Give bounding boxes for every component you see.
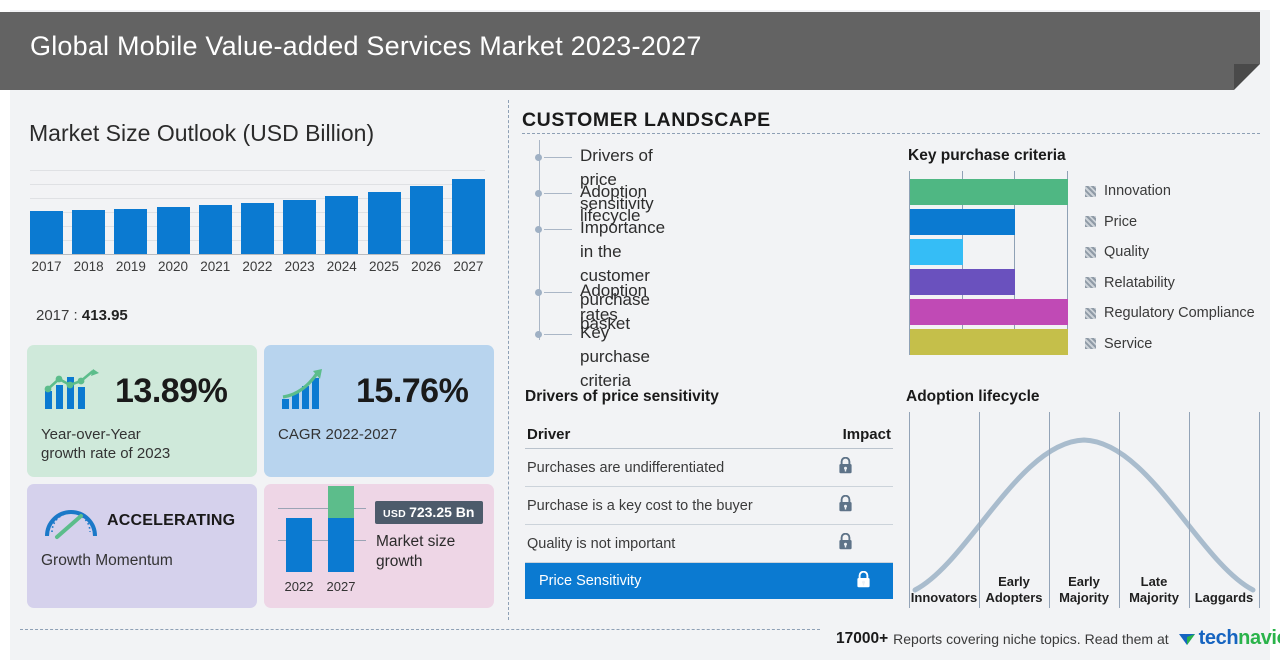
- bar-chart-growth-icon: [41, 367, 103, 413]
- lock-icon[interactable]: [856, 571, 871, 592]
- bullet-dot-icon: [535, 190, 542, 197]
- kpi-sub-yoy: Year-over-Year growth rate of 2023: [41, 425, 170, 463]
- kpi-sub-cagr: CAGR 2022-2027: [278, 425, 397, 444]
- caption-value: 413.95: [82, 307, 128, 324]
- kpc-legend-label: Relatability: [1104, 275, 1175, 291]
- market-size-title: Market Size Outlook (USD Billion): [29, 120, 374, 147]
- growth-mini-chart: 2022 2027: [278, 498, 366, 594]
- kpc-legend-label: Regulatory Compliance: [1104, 305, 1255, 321]
- table-row[interactable]: Purchase is a key cost to the buyer: [525, 487, 893, 525]
- momentum-label: ACCELERATING: [107, 512, 235, 530]
- infographic-page: Global Mobile Value-added Services Marke…: [0, 0, 1280, 670]
- kpi-card-yoy: 13.89% Year-over-Year growth rate of 202…: [27, 345, 257, 477]
- bar-2018: [72, 210, 105, 254]
- lock-icon: [838, 457, 853, 474]
- kpi-card-growth: 2022 2027 USD723.25 Bn Market size growt…: [264, 484, 494, 608]
- kpi-card-momentum: ACCELERATING Growth Momentum: [27, 484, 257, 608]
- column-header-impact: Impact: [843, 426, 891, 443]
- logo-tech: tech: [1199, 627, 1239, 650]
- stage-label: Early Adopters: [979, 574, 1049, 606]
- kpc-legend-item: Innovation: [1085, 176, 1275, 207]
- x-label-2025: 2025: [368, 259, 401, 274]
- driver-name: Price Sensitivity: [539, 573, 641, 589]
- x-label-2022: 2022: [241, 259, 274, 274]
- kpc-legend-item: Relatability: [1085, 268, 1275, 299]
- kpc-legend-label: Service: [1104, 336, 1152, 352]
- connector-line: [544, 193, 572, 194]
- logo-navio: navio: [1238, 627, 1280, 650]
- table-row[interactable]: Price Sensitivity: [525, 563, 893, 599]
- drivers-table-body: Purchases are undifferentiatedPurchase i…: [525, 449, 893, 599]
- hatched-swatch-icon: [1085, 308, 1096, 319]
- bar-2017: [30, 211, 63, 254]
- bullet-dot-icon: [535, 331, 542, 338]
- technavio-logo[interactable]: technavio™: [1179, 627, 1280, 650]
- bar-2021: [199, 205, 232, 254]
- stage-divider: [1189, 412, 1190, 608]
- footer-divider: [20, 629, 820, 630]
- bullet-dot-icon: [535, 154, 542, 161]
- chart-x-axis-labels: 2017201820192020202120222023202420252026…: [30, 259, 485, 274]
- mini-xlabel-2027: 2027: [322, 579, 360, 594]
- kpc-bar-relatability: [910, 269, 1015, 295]
- bar-2023: [283, 200, 316, 254]
- column-header-driver: Driver: [527, 426, 570, 443]
- driver-name: Purchases are undifferentiated: [527, 460, 724, 476]
- kpc-bar-price: [910, 209, 1015, 235]
- key-purchase-criteria-legend: InnovationPriceQualityRelatabilityRegula…: [1085, 176, 1275, 359]
- market-size-bar-chart: [30, 170, 485, 255]
- drivers-table-header: Driver Impact: [525, 420, 893, 449]
- stage-divider: [909, 412, 910, 608]
- stage-label: Laggards: [1189, 590, 1259, 606]
- x-label-2020: 2020: [157, 259, 190, 274]
- hatched-swatch-icon: [1085, 216, 1096, 227]
- bar-2020: [157, 207, 190, 254]
- chart-axis: [30, 254, 485, 255]
- momentum-sub: Growth Momentum: [41, 552, 173, 570]
- adoption-lifecycle-title: Adoption lifecycle: [906, 388, 1040, 406]
- growth-text-line2: growth: [376, 552, 455, 572]
- hatched-swatch-icon: [1085, 186, 1096, 197]
- bar-2019: [114, 209, 147, 254]
- kpc-legend-item: Regulatory Compliance: [1085, 298, 1275, 329]
- footer-count: 17000+: [836, 630, 888, 648]
- x-label-2018: 2018: [72, 259, 105, 274]
- mini-bar-2027-growth: [328, 486, 354, 518]
- adoption-lifecycle-chart: InnovatorsEarly AdoptersEarly MajorityLa…: [909, 412, 1259, 608]
- bar-2027: [452, 179, 485, 254]
- customer-landscape-item-label: Key purchase criteria: [580, 321, 650, 393]
- caption-year: 2017 :: [36, 307, 78, 324]
- corner-fold-cut: [1234, 64, 1260, 90]
- drivers-table: Driver Impact Purchases are undifferenti…: [525, 420, 893, 599]
- kpc-legend-item: Price: [1085, 207, 1275, 238]
- growth-text-line1: Market size: [376, 532, 455, 552]
- page-title: Global Mobile Value-added Services Marke…: [30, 31, 702, 62]
- header-bar: Global Mobile Value-added Services Marke…: [0, 12, 1260, 90]
- kpc-legend-label: Quality: [1104, 244, 1149, 260]
- bar-2024: [325, 196, 358, 254]
- technavio-mark-icon: [1179, 631, 1196, 647]
- customer-landscape-title: CUSTOMER LANDSCAPE: [522, 109, 771, 132]
- driver-name: Quality is not important: [527, 536, 675, 552]
- driver-name: Purchase is a key cost to the buyer: [527, 498, 753, 514]
- table-row[interactable]: Quality is not important: [525, 525, 893, 563]
- lock-icon: [856, 571, 871, 588]
- kpi-value-cagr: 15.76%: [356, 372, 468, 411]
- x-label-2027: 2027: [452, 259, 485, 274]
- kpi-card-cagr: 15.76% CAGR 2022-2027: [264, 345, 494, 477]
- market-size-caption: 2017 : 413.95: [36, 307, 128, 324]
- customer-landscape-item-label: Adoption rates: [580, 279, 647, 327]
- kpi-value-yoy: 13.89%: [115, 372, 227, 411]
- lock-icon: [838, 533, 853, 550]
- table-row[interactable]: Purchases are undifferentiated: [525, 449, 893, 487]
- kpi-sub-yoy-line1: Year-over-Year: [41, 425, 170, 444]
- kpc-legend-item: Service: [1085, 329, 1275, 360]
- key-purchase-criteria-title: Key purchase criteria: [908, 147, 1066, 165]
- x-label-2019: 2019: [114, 259, 147, 274]
- kpc-bar-innovation: [910, 179, 1068, 205]
- hatched-swatch-icon: [1085, 247, 1096, 258]
- usd-value-badge: USD723.25 Bn: [375, 501, 483, 524]
- mini-xlabel-2022: 2022: [280, 579, 318, 594]
- hatched-swatch-icon: [1085, 338, 1096, 349]
- hatched-swatch-icon: [1085, 277, 1096, 288]
- mini-bar-2027-base: [328, 518, 354, 572]
- lock-icon[interactable]: [838, 457, 853, 478]
- gauge-icon: [43, 502, 99, 542]
- connector-line: [544, 229, 572, 230]
- kpc-bar-quality: [910, 239, 963, 265]
- x-label-2024: 2024: [325, 259, 358, 274]
- x-label-2017: 2017: [30, 259, 63, 274]
- kpc-bar-service: [910, 329, 1068, 355]
- stage-label: Late Majority: [1119, 574, 1189, 606]
- lock-icon: [838, 495, 853, 512]
- stage-divider: [1259, 412, 1260, 608]
- connector-line: [544, 157, 572, 158]
- footer-text: Reports covering niche topics. Read them…: [893, 631, 1168, 647]
- growth-text: Market size growth: [376, 532, 455, 572]
- bullet-dot-icon: [535, 226, 542, 233]
- lock-icon[interactable]: [838, 495, 853, 516]
- customer-landscape-underline: [522, 133, 1260, 134]
- kpc-legend-label: Price: [1104, 214, 1137, 230]
- connector-line: [544, 334, 572, 335]
- mini-bar-2022-base: [286, 518, 312, 572]
- kpc-bar-regulatory-compliance: [910, 299, 1068, 325]
- drivers-table-title: Drivers of price sensitivity: [525, 388, 719, 406]
- stage-label: Innovators: [909, 590, 979, 606]
- bar-2026: [410, 186, 443, 254]
- chart-bars: [30, 170, 485, 254]
- stage-label: Early Majority: [1049, 574, 1119, 606]
- bar-2025: [368, 192, 401, 254]
- customer-landscape-spine: [539, 140, 540, 340]
- vertical-divider: [508, 100, 509, 620]
- lock-icon[interactable]: [838, 533, 853, 554]
- x-label-2021: 2021: [199, 259, 232, 274]
- bar-2022: [241, 203, 274, 254]
- x-label-2023: 2023: [283, 259, 316, 274]
- kpi-sub-yoy-line2: growth rate of 2023: [41, 444, 170, 463]
- kpc-legend-item: Quality: [1085, 237, 1275, 268]
- x-label-2026: 2026: [410, 259, 443, 274]
- bullet-dot-icon: [535, 289, 542, 296]
- footer: 17000+ Reports covering niche topics. Re…: [836, 627, 1280, 650]
- arrow-growth-icon: [280, 367, 342, 413]
- mini-bar-2022: [286, 518, 312, 572]
- mini-bar-2027: [328, 486, 354, 572]
- connector-line: [544, 292, 572, 293]
- kpc-legend-label: Innovation: [1104, 183, 1171, 199]
- key-purchase-criteria-chart: [909, 171, 1068, 355]
- usd-unit: USD: [383, 508, 406, 520]
- usd-value: 723.25 Bn: [409, 504, 474, 520]
